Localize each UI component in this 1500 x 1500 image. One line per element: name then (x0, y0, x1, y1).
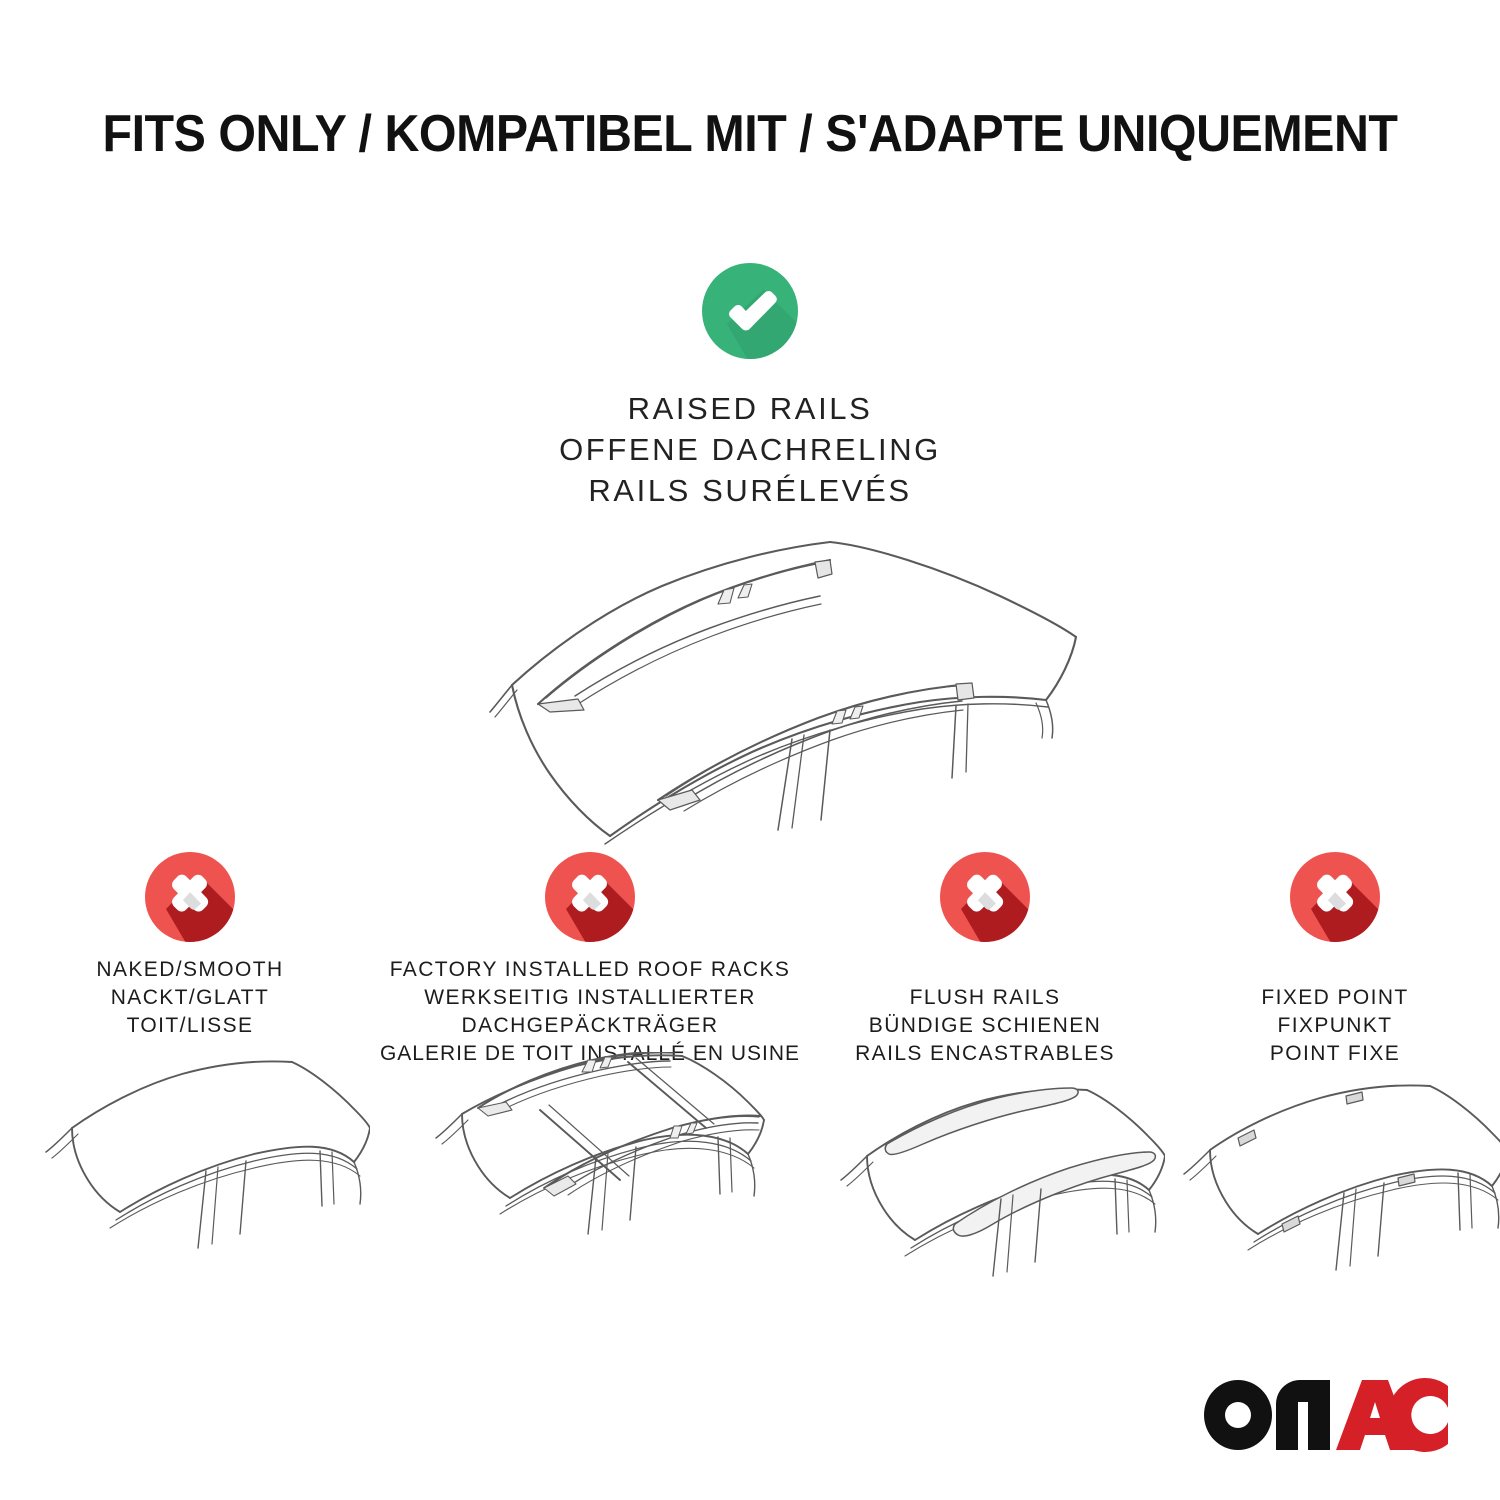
incompatible-label-1-line-3: DACHGEPÄCKTRÄGER (380, 1012, 800, 1040)
incompatible-label-0-line-1: NAKED/SMOOTH (96, 956, 283, 984)
incompatible-label-2-line-2: BÜNDIGE SCHIENEN (855, 1012, 1115, 1040)
cross-circle-icon (144, 851, 236, 948)
compatible-block: RAISED RAILS OFFENE DACHRELING RAILS SUR… (0, 262, 1500, 511)
incompatible-label-2-line-3: RAILS ENCASTRABLES (855, 1040, 1115, 1068)
incompatible-label-0-line-3: TOIT/LISSE (96, 1012, 283, 1040)
omac-logo (1202, 1378, 1448, 1452)
car-roof-naked-smooth-illustration (10, 1054, 370, 1304)
incompatible-label-0: NAKED/SMOOTH NACKT/GLATT TOIT/LISSE (96, 956, 283, 1040)
car-roof-factory-racks-illustration (400, 1052, 780, 1302)
cross-circle-icon (939, 851, 1031, 948)
incompatible-label-3-line-1: FIXED POINT (1261, 984, 1408, 1012)
cross-circle-icon (1289, 851, 1381, 948)
cross-icon-wrap-0 (144, 850, 236, 948)
cross-circle-icon (544, 851, 636, 948)
compatible-label: RAISED RAILS OFFENE DACHRELING RAILS SUR… (0, 388, 1500, 511)
incompatible-item-naked-smooth: NAKED/SMOOTH NACKT/GLATT TOIT/LISSE (0, 850, 380, 1304)
incompatible-label-2-line-1: FLUSH RAILS (855, 984, 1115, 1012)
cross-icon-wrap-2 (939, 850, 1031, 948)
incompatible-item-flush-rails: FLUSH RAILS BÜNDIGE SCHIENEN RAILS ENCAS… (800, 850, 1170, 1332)
cross-icon-wrap-3 (1289, 850, 1381, 948)
incompatible-grid: NAKED/SMOOTH NACKT/GLATT TOIT/LISSE (0, 850, 1500, 1332)
compatible-label-line-2: OFFENE DACHRELING (0, 429, 1500, 470)
check-circle-icon (701, 262, 799, 360)
incompatible-label-2: FLUSH RAILS BÜNDIGE SCHIENEN RAILS ENCAS… (855, 984, 1115, 1068)
cross-icon-wrap-1 (544, 850, 636, 948)
incompatible-label-0-line-2: NACKT/GLATT (96, 984, 283, 1012)
car-roof-flush-rails-illustration (805, 1082, 1165, 1332)
page-title: FITS ONLY / KOMPATIBEL MIT / S'ADAPTE UN… (53, 104, 1448, 164)
incompatible-label-1-line-2: WERKSEITIG INSTALLIERTER (380, 984, 800, 1012)
incompatible-label-1-line-1: FACTORY INSTALLED ROOF RACKS (380, 956, 800, 984)
incompatible-label-3-line-2: FIXPUNKT (1261, 1012, 1408, 1040)
incompatible-label-3-line-3: POINT FIXE (1261, 1040, 1408, 1068)
car-roof-raised-rails-illustration (400, 500, 1100, 850)
car-roof-fixed-point-illustration (1170, 1082, 1500, 1332)
compatible-icon-wrap (0, 262, 1500, 362)
incompatible-item-factory-racks: FACTORY INSTALLED ROOF RACKS WERKSEITIG … (380, 850, 800, 1302)
compatible-label-line-1: RAISED RAILS (0, 388, 1500, 429)
incompatible-item-fixed-point: FIXED POINT FIXPUNKT POINT FIXE (1170, 850, 1500, 1332)
incompatible-label-3: FIXED POINT FIXPUNKT POINT FIXE (1261, 984, 1408, 1068)
